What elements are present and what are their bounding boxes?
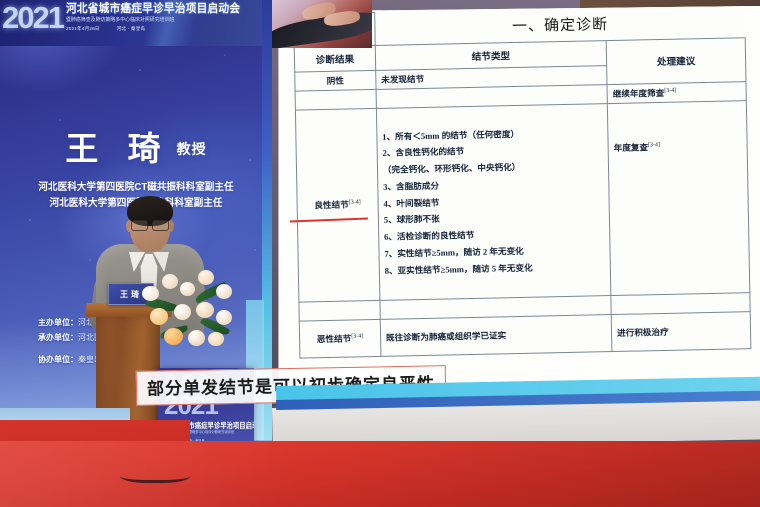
backdrop-date-text: 2021年4月26日 bbox=[66, 26, 100, 31]
glasses-lens-left bbox=[131, 220, 148, 231]
speaker-rank: 教授 bbox=[177, 141, 207, 157]
flower bbox=[174, 304, 191, 320]
table-cell-type-malignant: 既往诊断为肺癌或组织学已证实 bbox=[380, 314, 612, 356]
backdrop-location-text: 河北 · 秦皇岛 bbox=[117, 26, 146, 31]
conference-photo-scene: 2021 河北省城市癌症早诊早治项目启动会 暨肺癌筛查及随访策略多中心临床对照研… bbox=[0, 0, 760, 507]
flower bbox=[198, 270, 214, 285]
table-header-result: 诊断结果 bbox=[294, 45, 375, 72]
advice-sup-benign: [3-4] bbox=[648, 142, 660, 148]
result-sup-benign: [3-4] bbox=[349, 199, 361, 205]
flower-arrangement bbox=[140, 258, 238, 348]
organizer-label-undertaker: 承办单位： bbox=[38, 333, 78, 342]
photo-inset-hands bbox=[272, 0, 372, 48]
result-text-malignant: 恶性结节 bbox=[317, 333, 352, 344]
glasses-lens-right bbox=[152, 220, 169, 231]
presentation-slide: 一、确定诊断 诊断结果 结节类型 处理建议 阴性 未发现结节 继续年度筛查[3-… bbox=[277, 0, 760, 398]
flower bbox=[188, 330, 205, 346]
name-placard-text: 王琦 bbox=[120, 289, 142, 300]
flower bbox=[164, 328, 183, 345]
advice-text-negative: 继续年度筛查 bbox=[613, 87, 665, 98]
flower bbox=[196, 302, 214, 318]
flower bbox=[216, 284, 232, 299]
table-cell-result-malignant: 恶性结节[3-4] bbox=[299, 319, 380, 358]
flower bbox=[142, 286, 159, 301]
table-cell-result-negative: 阴性 bbox=[295, 70, 376, 91]
floor-cable bbox=[120, 466, 190, 483]
backdrop-event-date: 2021年4月26日 河北 · 秦皇岛 bbox=[66, 26, 266, 32]
flower bbox=[162, 274, 178, 289]
projection-screen: 一、确定诊断 诊断结果 结节类型 处理建议 阴性 未发现结节 继续年度筛查[3-… bbox=[277, 6, 760, 398]
advice-text-benign: 年度复查 bbox=[614, 142, 649, 153]
table-cell-spacer-a bbox=[299, 300, 380, 321]
glasses-icon bbox=[131, 220, 169, 229]
advice-sup-negative: [3-4] bbox=[664, 87, 676, 93]
table-cell-result-benign: 良性结节[3-4] bbox=[295, 108, 379, 302]
table-cell-type-benign: 1、所有＜5mm 的结节（任何密度） 2、含良性钙化的结节 （完全钙化、环形钙化… bbox=[376, 103, 611, 300]
result-text-benign: 良性结节 bbox=[314, 200, 349, 211]
table-cell-advice-benign: 年度复查[3-4] bbox=[607, 100, 749, 295]
backdrop-event-title: 河北省城市癌症早诊早治项目启动会 bbox=[66, 3, 252, 15]
backdrop-year: 2021 bbox=[2, 2, 63, 33]
organizer-label-coorganizer: 协办单位： bbox=[38, 355, 78, 364]
result-sup-malignant: [3-4] bbox=[351, 333, 363, 339]
speaker-name: 王 琦 bbox=[65, 132, 170, 165]
flower bbox=[150, 308, 168, 325]
flower bbox=[180, 282, 195, 296]
table-cell-advice-malignant: 进行积极治疗 bbox=[611, 311, 751, 351]
carpet-sheen bbox=[0, 441, 760, 507]
speaker-name-block: 王 琦教授 bbox=[0, 132, 272, 165]
backdrop-title-wrap: 河北省城市癌症早诊早治项目启动会 暨肺癌筛查及随访策略多中心临床对照研究培训班 … bbox=[66, 3, 266, 32]
red-carpet bbox=[0, 441, 760, 507]
organizer-label-host: 主办单位： bbox=[38, 318, 78, 327]
backdrop-event-subtitle: 暨肺癌筛查及随访策略多中心临床对照研究培训班 bbox=[66, 17, 256, 24]
table-header-advice: 处理建议 bbox=[606, 37, 746, 84]
flower bbox=[216, 310, 232, 325]
diagnosis-table: 一、确定诊断 诊断结果 结节类型 处理建议 阴性 未发现结节 继续年度筛查[3-… bbox=[293, 4, 751, 358]
table-row-benign: 良性结节[3-4] 1、所有＜5mm 的结节（任何密度） 2、含良性钙化的结节 … bbox=[295, 100, 749, 301]
flower bbox=[208, 332, 224, 346]
table-cell-blank-a bbox=[295, 89, 376, 110]
